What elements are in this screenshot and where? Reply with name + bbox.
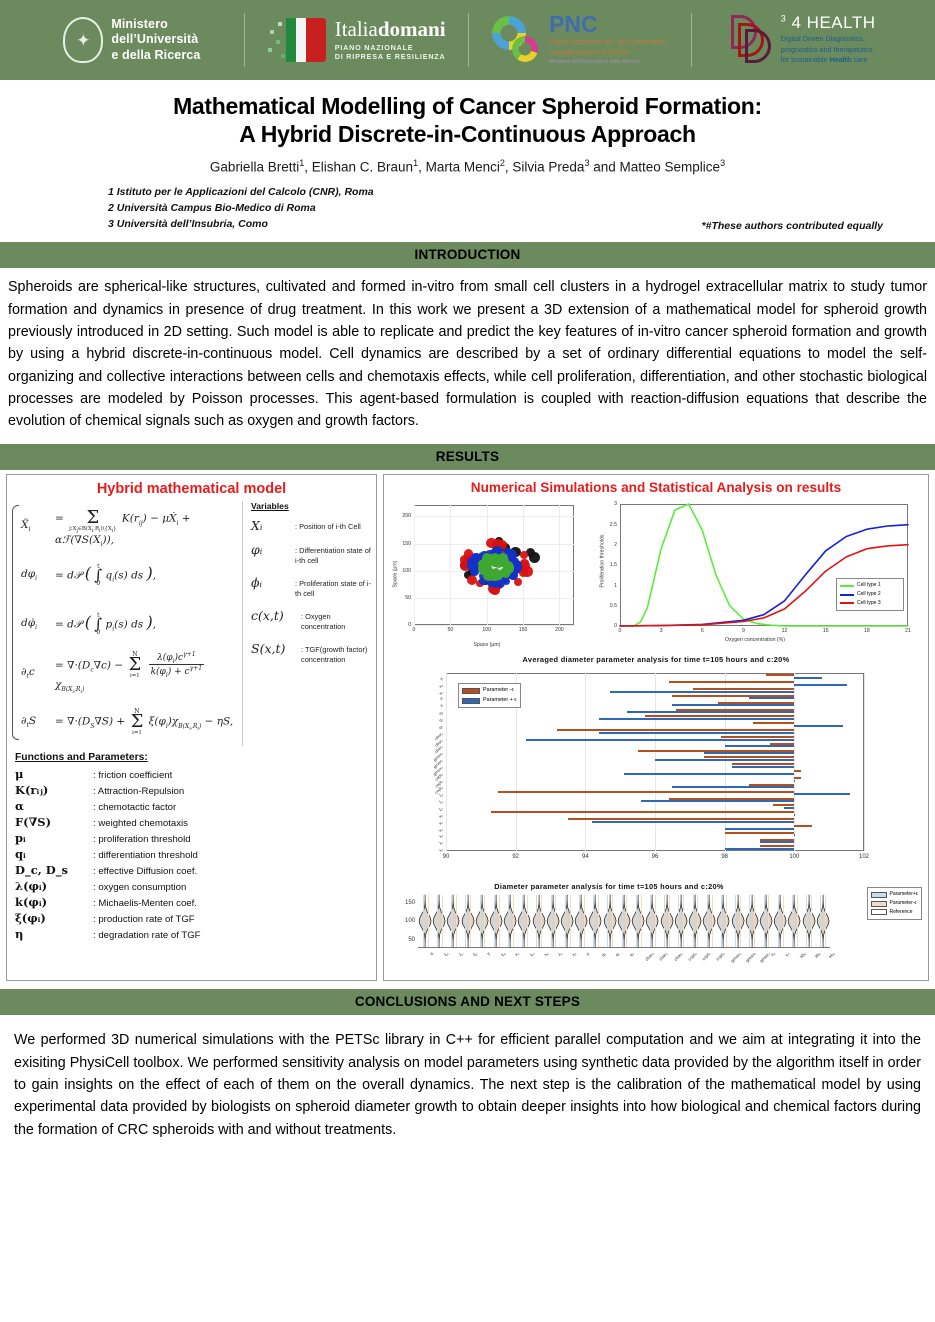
violin-shape bbox=[802, 895, 816, 947]
violin-minus-line bbox=[811, 895, 812, 947]
y-tick-label: k₁ bbox=[438, 819, 444, 825]
line-series-group bbox=[590, 499, 920, 649]
bar-segment bbox=[749, 697, 794, 699]
x-tick-label: cbar₁ bbox=[658, 951, 669, 962]
y-tick-label: 100 bbox=[396, 918, 415, 924]
bar-segment bbox=[672, 704, 794, 706]
parameter-row: qᵢ: differentiation threshold bbox=[15, 847, 372, 861]
violin-shape bbox=[489, 895, 503, 947]
y-tick-label: λ₀ bbox=[438, 847, 444, 853]
y-tick-label: 200 bbox=[397, 513, 411, 519]
equation-proliferation: dφ̇i = d𝒫 ( t∫0 pi(s) ds ), bbox=[11, 599, 238, 648]
variable-symbol: c(x,t) bbox=[251, 608, 301, 623]
x-tick-label: kb₂ bbox=[828, 951, 836, 959]
violin-shape bbox=[816, 895, 830, 947]
grid-line-x bbox=[446, 673, 447, 851]
section-header-introduction: INTRODUCTION bbox=[0, 242, 935, 268]
violin-minus-line bbox=[825, 895, 826, 947]
model-equations: Ẍi = Σj:Xj∈B(Xi,Ri)\{Xi} K(rij) − μẊi … bbox=[11, 501, 243, 746]
logo-pnc: PNC Piano nazionale per gli investimenti… bbox=[468, 9, 692, 71]
violin-minus-line bbox=[612, 895, 613, 947]
violin-shape bbox=[773, 895, 787, 947]
violin-shape bbox=[645, 895, 659, 947]
funding-logo-band: ✦ Ministero dell’Università e della Rice… bbox=[0, 0, 935, 80]
violin-plus-line bbox=[650, 895, 651, 947]
x-tick-label: κ₁ bbox=[770, 951, 776, 957]
violin-shape bbox=[532, 895, 546, 947]
chart-title: Averaged diameter parameter analysis for… bbox=[388, 655, 924, 664]
violin-minus-line bbox=[541, 895, 542, 947]
y-tick-label: 150 bbox=[396, 900, 415, 906]
variable-row: c(x,t) : Oxygen concentration bbox=[251, 608, 372, 632]
cell-marker bbox=[520, 551, 528, 559]
violin-shape bbox=[674, 895, 688, 947]
variable-definition: : TGF(growth factor) concentration bbox=[301, 641, 372, 665]
variable-definition: : Differentiation state of i-th cell bbox=[295, 542, 372, 566]
violin-plus-line bbox=[735, 895, 736, 947]
violin-plus-line bbox=[437, 895, 438, 947]
variable-row: S(x,t) : TGF(growth factor) concentratio… bbox=[251, 641, 372, 665]
italiadomani-flag-icon bbox=[266, 14, 328, 66]
violin-plus-line bbox=[480, 895, 481, 947]
x-tick-label: 100 bbox=[481, 627, 493, 633]
cell-marker bbox=[488, 572, 495, 579]
bar-segment bbox=[794, 793, 850, 795]
violin-minus-line bbox=[655, 895, 656, 947]
d3-sub-1: Digital Driven Diagnostics, bbox=[781, 34, 876, 44]
violin-minus-line bbox=[470, 895, 471, 947]
bar-segment bbox=[725, 832, 795, 834]
legend-label: Parameter-ϵ bbox=[890, 899, 917, 908]
author-1: Gabriella Bretti bbox=[210, 160, 299, 175]
x-tick-label: λ₂ bbox=[571, 951, 577, 957]
page-title: Mathematical Modelling of Cancer Spheroi… bbox=[40, 92, 895, 148]
violin-plus-line bbox=[565, 895, 566, 947]
x-tick-label: cbar₀ bbox=[644, 951, 655, 962]
legend-label: Cell type 2 bbox=[857, 590, 881, 599]
parameter-row: λ(φᵢ): oxygen consumption bbox=[15, 879, 372, 893]
x-axis-title: Space (µm) bbox=[388, 642, 586, 648]
italiadomani-sub-1: PIANO NAZIONALE bbox=[335, 43, 446, 52]
mur-line-3: e della Ricerca bbox=[111, 48, 200, 63]
x-tick-label: ξ₁ bbox=[458, 951, 464, 957]
parameter-row: K(rᵢⱼ): Attraction-Repulsion bbox=[15, 783, 372, 797]
x-tick-label: k₀ bbox=[500, 951, 506, 957]
x-tick-label: 50 bbox=[444, 627, 456, 633]
equation-position: Ẍi = Σj:Xj∈B(Xi,Ri)\{Xi} K(rij) − μẊi … bbox=[11, 501, 238, 550]
violin-plus-line bbox=[622, 895, 623, 947]
violin-plus-line bbox=[778, 895, 779, 947]
x-tick-label: 90 bbox=[437, 854, 455, 860]
x-tick-label: 102 bbox=[855, 854, 873, 860]
violin-plus-line bbox=[423, 895, 424, 947]
x-tick-label: gmax₀ bbox=[730, 951, 742, 963]
cell-marker bbox=[493, 554, 502, 563]
bar-segment bbox=[794, 777, 801, 779]
introduction-body: Spheroids are spherical-like structures,… bbox=[0, 268, 935, 438]
affiliation-1: 1 Istituto per le Applicazioni del Calco… bbox=[108, 184, 374, 200]
variable-definition: : Oxygen concentration bbox=[301, 608, 372, 632]
violin-shape bbox=[432, 895, 446, 947]
bar-segment bbox=[794, 825, 811, 827]
y-tick-label: 50 bbox=[396, 937, 415, 943]
y-tick-label: α bbox=[439, 696, 444, 701]
bar-segment bbox=[704, 752, 795, 754]
x-tick-label: q₀ bbox=[600, 951, 607, 958]
title-block: Mathematical Modelling of Cancer Spheroi… bbox=[0, 80, 935, 236]
violin-minus-line bbox=[754, 895, 755, 947]
violin-minus-line bbox=[570, 895, 571, 947]
violin-plus-line bbox=[707, 895, 708, 947]
variable-symbol: S(x,t) bbox=[251, 641, 301, 656]
d3-superscript: 3 bbox=[781, 14, 787, 24]
y-tick-label: ξ₀ bbox=[438, 806, 444, 812]
logo-italiadomani: Italiadomani PIANO NAZIONALE DI RIPRESA … bbox=[244, 9, 468, 71]
legend-label: Parameter+ϵ bbox=[890, 890, 918, 899]
x-tick-label: kb₁ bbox=[813, 951, 821, 959]
model-variables: Variables Xᵢ : Position of i-th Cell φᵢ … bbox=[243, 501, 372, 746]
italiadomani-title-b: domani bbox=[378, 17, 446, 41]
legend-label: Cell type 1 bbox=[857, 581, 881, 590]
grid-line-x bbox=[864, 673, 865, 851]
bar-segment bbox=[732, 766, 795, 768]
author-5: and Matteo Semplice bbox=[593, 160, 720, 175]
violin-plus-line bbox=[636, 895, 637, 947]
author-4: Silvia Preda bbox=[512, 160, 584, 175]
y-tick-label: ξ₁ bbox=[438, 799, 444, 805]
y-axis-title: Proliferation thresholds bbox=[600, 535, 606, 588]
bar-segment bbox=[610, 691, 795, 693]
parameter-row: η: degradation rate of TGF bbox=[15, 927, 372, 941]
chart-legend: Parameter -ϵParameter + ϵ bbox=[458, 683, 521, 708]
legend-swatch bbox=[462, 698, 480, 704]
section-header-results: RESULTS bbox=[0, 444, 935, 470]
affiliations: 1 Istituto per le Applicazioni del Calco… bbox=[108, 184, 374, 233]
variable-symbol: φᵢ bbox=[251, 542, 295, 557]
legend-label: Cell type 3 bbox=[857, 599, 881, 608]
legend-label: Parameter + ϵ bbox=[483, 696, 517, 705]
equation-oxygen: ∂tc = ∇·(Dc∇c) − NΣi=1 λ(φi)cγ+1k(φi) + … bbox=[11, 648, 238, 697]
chart-legend: Cell type 1Cell type 2Cell type 3 bbox=[836, 578, 904, 610]
conclusions-body: We performed 3D numerical simulations wi… bbox=[0, 1015, 935, 1140]
violin-plus-line bbox=[693, 895, 694, 947]
legend-item: Cell type 1 bbox=[840, 581, 900, 590]
author-list: Gabriella Bretti1, Elishan C. Braun1, Ma… bbox=[40, 158, 895, 175]
violin-plus-line bbox=[820, 895, 821, 947]
violin-shape bbox=[759, 895, 773, 947]
pnc-line-1: Piano nazionale per gli investimenti bbox=[549, 36, 667, 47]
d3-health-title: 4 HEALTH bbox=[792, 13, 876, 32]
chart-legend: Parameter+ϵParameter-ϵReference bbox=[867, 887, 922, 919]
legend-label: Reference bbox=[890, 908, 913, 917]
d3-4-health-wordmark: 3 4 HEALTH Digital Driven Diagnostics, p… bbox=[781, 14, 876, 65]
violin-shape bbox=[745, 895, 759, 947]
violin-minus-line bbox=[626, 895, 627, 947]
violin-minus-line bbox=[683, 895, 684, 947]
legend-swatch bbox=[462, 688, 480, 694]
violin-plus-line bbox=[465, 895, 466, 947]
pnc-gears-icon bbox=[492, 14, 542, 66]
bar-segment bbox=[491, 811, 794, 813]
bar-segment bbox=[794, 677, 822, 679]
x-tick-label: q₁ bbox=[614, 951, 620, 957]
bar-segment bbox=[725, 848, 795, 850]
violin-shape bbox=[716, 895, 730, 947]
violin-minus-line bbox=[598, 895, 599, 947]
grid-line-x bbox=[585, 673, 586, 851]
legend-swatch bbox=[840, 585, 854, 587]
x-tick-label: 150 bbox=[517, 627, 529, 633]
violin-plus-line bbox=[551, 895, 552, 947]
violin-shape bbox=[731, 895, 745, 947]
legend-item: Parameter-ϵ bbox=[871, 899, 918, 908]
violin-minus-line bbox=[641, 895, 642, 947]
x-axis-title: Oxygen concentration (%) bbox=[590, 637, 920, 643]
variable-row: φᵢ : Differentiation state of i-th cell bbox=[251, 542, 372, 566]
variables-title: Variables bbox=[251, 501, 372, 511]
grid-line-x bbox=[414, 505, 415, 625]
chart-title: Diameter parameter analysis for time t=1… bbox=[388, 882, 830, 891]
x-tick-label: μ bbox=[585, 951, 590, 956]
variable-definition: : Position of i-th Cell bbox=[295, 518, 372, 532]
violin-minus-line bbox=[783, 895, 784, 947]
bar-segment bbox=[760, 841, 795, 843]
violin-minus-line bbox=[768, 895, 769, 947]
grid-line-y bbox=[414, 598, 574, 599]
legend-item: Cell type 2 bbox=[840, 590, 900, 599]
violin-shape bbox=[475, 895, 489, 947]
violin-minus-line bbox=[584, 895, 585, 947]
bar-segment bbox=[794, 770, 801, 772]
violin-shape bbox=[461, 895, 475, 947]
violin-plus-line bbox=[678, 895, 679, 947]
violin-plus-line bbox=[721, 895, 722, 947]
x-tick-label: ξ₂ bbox=[472, 951, 478, 957]
violin-plus-line bbox=[508, 895, 509, 947]
parameter-row: k(φᵢ): Michaelis-Menten coef. bbox=[15, 895, 372, 909]
bar-segment bbox=[498, 791, 794, 793]
hybrid-model-panel: Hybrid mathematical model Ẍi = Σj:Xj∈B(… bbox=[6, 474, 377, 981]
x-tick-label: copt₀ bbox=[687, 951, 698, 962]
violin-minus-line bbox=[484, 895, 485, 947]
violin-shape bbox=[702, 895, 716, 947]
hybrid-model-heading: Hybrid mathematical model bbox=[11, 481, 372, 497]
parameter-row: ξ(φᵢ): production rate of TGF bbox=[15, 911, 372, 925]
y-tick-label: k₀ bbox=[438, 826, 444, 832]
x-tick-label: λ₀ bbox=[543, 951, 549, 957]
functions-parameters-list: μ: friction coefficient K(rᵢⱼ): Attracti… bbox=[11, 767, 372, 941]
variable-symbol: Xᵢ bbox=[251, 518, 295, 533]
bar-segment bbox=[669, 681, 794, 683]
violin-shape bbox=[787, 895, 801, 947]
title-line-1: Mathematical Modelling of Cancer Spheroi… bbox=[40, 92, 895, 120]
violin-plus-line bbox=[764, 895, 765, 947]
equation-differentiation: dφi = d𝒫 ( t∫0 qi(s) ds ), bbox=[11, 550, 238, 599]
violin-plus-line bbox=[536, 895, 537, 947]
y-tick-label: 100 bbox=[397, 568, 411, 574]
parameter-row: μ: friction coefficient bbox=[15, 767, 372, 781]
author-3: Marta Menci bbox=[426, 160, 500, 175]
x-tick-label: k₁ bbox=[514, 951, 520, 957]
x-tick-label: kb₀ bbox=[799, 951, 807, 959]
y-tick-label: λ₁ bbox=[438, 840, 444, 846]
y-tick-label: 0 bbox=[397, 622, 411, 628]
chart-proliferation-thresholds: 03691215182100.511.522.53Cell type 1Cell… bbox=[590, 499, 920, 649]
bar-segment bbox=[526, 739, 794, 741]
y-tick-label: λ₂ bbox=[438, 833, 444, 839]
y-tick-label: q₁ bbox=[438, 717, 444, 723]
bar-segment bbox=[794, 834, 795, 836]
x-tick-label: 92 bbox=[507, 854, 525, 860]
bar-segment bbox=[766, 674, 794, 676]
pnc-acronym: PNC bbox=[549, 14, 667, 36]
violin-shape bbox=[560, 895, 574, 947]
violin-shape bbox=[603, 895, 617, 947]
violin-minus-line bbox=[555, 895, 556, 947]
legend-swatch bbox=[840, 602, 854, 604]
violin-shape bbox=[517, 895, 531, 947]
x-tick-label: ξ₀ bbox=[443, 951, 449, 957]
violin-shape bbox=[546, 895, 560, 947]
y-tick-label: q₂ bbox=[437, 710, 443, 716]
x-tick-label: κ₂ bbox=[784, 951, 790, 957]
bar-segment bbox=[641, 800, 794, 802]
bar-segment bbox=[672, 786, 794, 788]
title-line-2: A Hybrid Discrete-in-Continuous Approach bbox=[40, 120, 895, 148]
d3-sub-3: for sustainable Health care bbox=[781, 55, 876, 65]
poster-root: ✦ Ministero dell’Università e della Rice… bbox=[0, 0, 935, 1322]
bar-segment bbox=[599, 732, 794, 734]
legend-label: Parameter -ϵ bbox=[483, 686, 514, 695]
grid-line-y bbox=[414, 516, 574, 517]
numerical-simulations-panel: Numerical Simulations and Statistical An… bbox=[383, 474, 929, 981]
grid-line-x bbox=[725, 673, 726, 851]
bar-segment bbox=[794, 725, 843, 727]
violin-shape bbox=[617, 895, 631, 947]
violin-plus-line bbox=[494, 895, 495, 947]
line-series bbox=[620, 525, 908, 626]
chart-averaged-diameter-parameter-analysis: Averaged diameter parameter analysis for… bbox=[388, 651, 924, 881]
violin-minus-line bbox=[740, 895, 741, 947]
bar-segment bbox=[624, 773, 795, 775]
affiliation-2: 2 Università Campus Bio-Medico di Roma bbox=[108, 200, 374, 216]
grid-line-x bbox=[559, 505, 560, 625]
affiliation-3: 3 Università dell’Insubria, Como bbox=[108, 216, 374, 232]
x-tick-label: 100 bbox=[785, 854, 803, 860]
bar-segment bbox=[592, 821, 794, 823]
violin-shape bbox=[631, 895, 645, 947]
mur-line-1: Ministero bbox=[111, 17, 200, 32]
bar-segment bbox=[794, 780, 795, 782]
grid-line-x bbox=[450, 505, 451, 625]
x-tick-label: cbar₂ bbox=[673, 951, 684, 962]
functions-parameters-title: Functions and Parameters: bbox=[15, 752, 372, 763]
x-tick-label: 94 bbox=[576, 854, 594, 860]
y-tick-label: k₂ bbox=[438, 813, 444, 819]
legend-item: Parameter -ϵ bbox=[462, 686, 517, 695]
y-tick-label: μ bbox=[439, 676, 444, 681]
legend-item: Cell type 3 bbox=[840, 599, 900, 608]
legend-item: Reference bbox=[871, 908, 918, 917]
equal-contribution-note: *#These authors contributed equally bbox=[702, 220, 883, 232]
y-tick-label: κ₁ bbox=[438, 689, 444, 695]
violin-minus-line bbox=[697, 895, 698, 947]
d3-monogram-icon bbox=[731, 15, 775, 65]
logo-ministero-universita-ricerca: ✦ Ministero dell’Università e della Rice… bbox=[20, 9, 244, 71]
italiadomani-title-a: Italia bbox=[335, 17, 378, 41]
violin-plus-line bbox=[451, 895, 452, 947]
parameter-row: F(∇S): weighted chemotaxis bbox=[15, 815, 372, 829]
bar-segment bbox=[794, 814, 795, 816]
y-tick-label: γ bbox=[439, 703, 444, 708]
bar-segment bbox=[655, 759, 794, 761]
grid-line-x bbox=[655, 673, 656, 851]
x-tick-label: k₂ bbox=[529, 951, 535, 957]
logo-d3-4-health: 3 4 HEALTH Digital Driven Diagnostics, p… bbox=[691, 9, 915, 71]
x-tick-label: 98 bbox=[716, 854, 734, 860]
x-tick-label: 200 bbox=[553, 627, 565, 633]
legend-item: Parameter + ϵ bbox=[462, 696, 517, 705]
y-tick-label: q₀ bbox=[437, 724, 443, 730]
chart-diameter-parameter-analysis: Diameter parameter analysis for time t=1… bbox=[388, 881, 924, 976]
numerical-simulations-heading: Numerical Simulations and Statistical An… bbox=[388, 480, 924, 495]
x-tick-label: λ₁ bbox=[557, 951, 563, 957]
violin-shape bbox=[446, 895, 460, 947]
bar-segment bbox=[753, 722, 795, 724]
legend-swatch bbox=[871, 892, 887, 898]
d3-sub-2: prognostics and therapeutics bbox=[781, 45, 876, 55]
mur-line-2: dell’Università bbox=[111, 32, 200, 47]
variable-row: ϕᵢ : Proliferation state of i-th cell bbox=[251, 575, 372, 599]
equation-tgf: ∂tS = ∇·(DS∇S) + NΣi=1 ξ(φi)χB(Xi,Ri) − … bbox=[11, 697, 238, 746]
pnc-line-2: complementari al PNRR bbox=[549, 47, 667, 58]
violin-shape bbox=[574, 895, 588, 947]
violin-minus-line bbox=[442, 895, 443, 947]
variable-definition: : Proliferation state of i-th cell bbox=[295, 575, 372, 599]
italiadomani-sub-2: DI RIPRESA E RESILIENZA bbox=[335, 52, 446, 61]
bar-segment bbox=[599, 718, 794, 720]
variable-symbol: ϕᵢ bbox=[251, 575, 295, 590]
bar-segment bbox=[725, 828, 795, 830]
italian-republic-emblem-icon: ✦ bbox=[63, 17, 103, 63]
results-content: Hybrid mathematical model Ẍi = Σj:Xj∈B(… bbox=[0, 470, 935, 981]
mur-logo-text: Ministero dell’Università e della Ricerc… bbox=[111, 17, 200, 63]
violin-plus-line bbox=[749, 895, 750, 947]
x-tick-label: gmax₁ bbox=[744, 951, 756, 963]
violin-plus-line bbox=[806, 895, 807, 947]
pnc-line-3: Ministero dell'Università e della Ricerc… bbox=[549, 58, 667, 66]
pnc-wordmark: PNC Piano nazionale per gli investimenti… bbox=[549, 14, 667, 67]
violin-minus-line bbox=[456, 895, 457, 947]
violin-minus-line bbox=[797, 895, 798, 947]
legend-swatch bbox=[871, 901, 887, 907]
x-tick-label: α bbox=[429, 951, 434, 956]
x-tick-label: 96 bbox=[646, 854, 664, 860]
italiadomani-wordmark: Italiadomani PIANO NAZIONALE DI RIPRESA … bbox=[335, 19, 446, 61]
violin-minus-line bbox=[527, 895, 528, 947]
x-tick-label: q₂ bbox=[628, 951, 634, 957]
violin-minus-line bbox=[428, 895, 429, 947]
violin-plus-line bbox=[607, 895, 608, 947]
violin-plus-line bbox=[522, 895, 523, 947]
x-tick-label: copt₂ bbox=[715, 951, 726, 962]
cell-marker bbox=[529, 552, 540, 563]
x-tick-label: copt₁ bbox=[701, 951, 711, 961]
variable-row: Xᵢ : Position of i-th Cell bbox=[251, 518, 372, 533]
violin-plus-line bbox=[792, 895, 793, 947]
violin-plus-line bbox=[593, 895, 594, 947]
violin-minus-line bbox=[669, 895, 670, 947]
